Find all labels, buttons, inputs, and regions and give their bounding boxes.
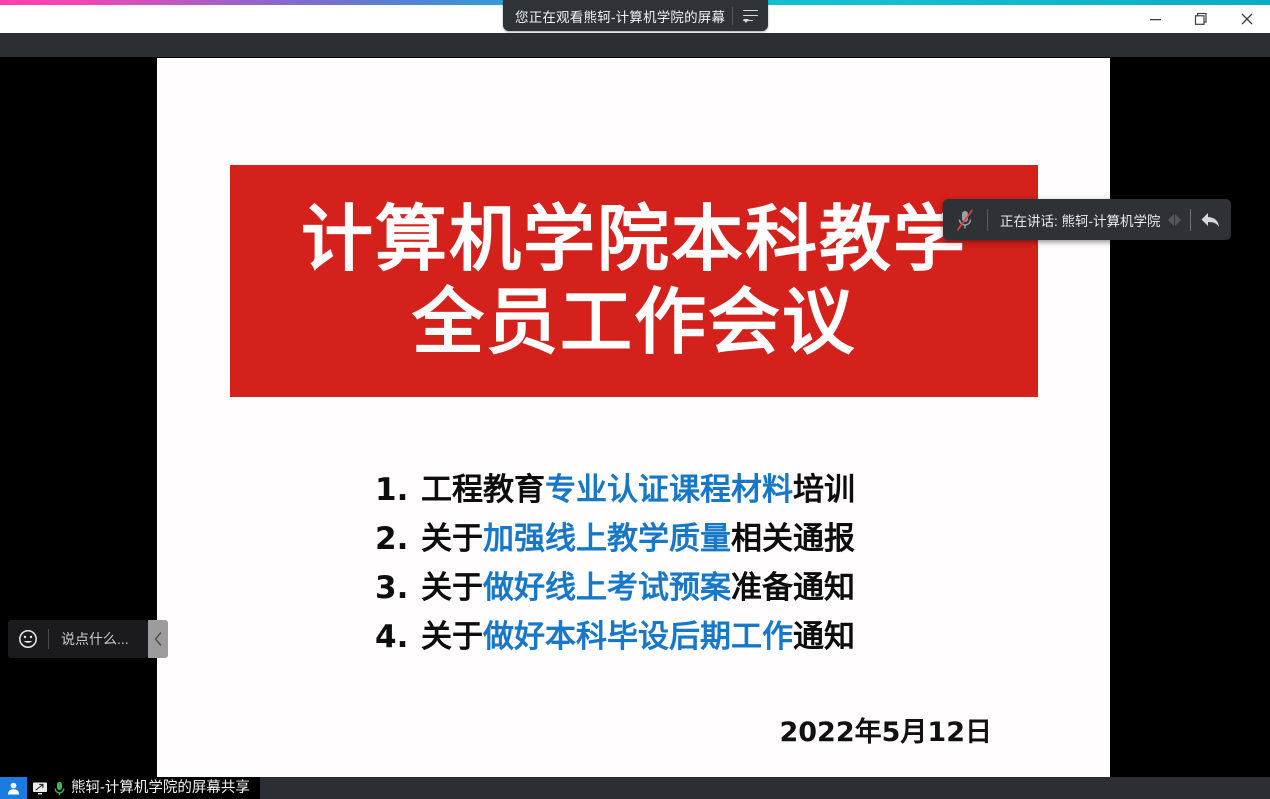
agenda-text-pre: 工程教育 xyxy=(421,466,545,515)
agenda-number: 4. xyxy=(375,613,421,662)
agenda-text-highlight: 做好线上考试预案 xyxy=(483,564,731,613)
agenda-text-highlight: 做好本科毕设后期工作 xyxy=(483,613,793,662)
emoji-button[interactable] xyxy=(8,620,48,658)
minimize-button[interactable] xyxy=(1132,5,1178,33)
agenda-number: 1. xyxy=(375,466,421,515)
agenda-text-post: 相关通报 xyxy=(731,515,855,564)
reply-arrow-icon xyxy=(1200,210,1222,230)
agenda-text-post: 准备通知 xyxy=(731,564,855,613)
collapse-chevrons-icon xyxy=(1165,210,1185,230)
agenda-text-post: 培训 xyxy=(793,466,855,515)
slide-title-line2: 全员工作会议 xyxy=(412,282,856,363)
hamburger-menu-icon xyxy=(743,10,758,22)
minimize-icon xyxy=(1149,13,1162,26)
agenda-text-post: 通知 xyxy=(793,613,855,662)
toolbar-collapse-button[interactable] xyxy=(1160,199,1190,240)
window-controls xyxy=(1132,5,1270,33)
restore-button[interactable] xyxy=(1178,5,1224,33)
list-item: 2. 关于 加强线上教学质量 相关通报 xyxy=(375,515,1075,564)
agenda-text-pre: 关于 xyxy=(421,613,483,662)
bottom-status-bar: 熊轲-计算机学院的屏幕共享 xyxy=(0,777,1270,799)
agenda-number: 3. xyxy=(375,564,421,613)
slide-agenda-list: 1. 工程教育 专业认证课程材料 培训 2. 关于 加强线上教学质量 相关通报 … xyxy=(375,466,1075,662)
speaker-status-toolbar[interactable]: 正在讲话: 熊轲-计算机学院; xyxy=(943,199,1231,240)
microphone-active-icon[interactable] xyxy=(53,781,66,796)
chevron-left-icon xyxy=(154,632,163,646)
viewing-screen-chip[interactable]: 您正在观看熊轲-计算机学院的屏幕 xyxy=(503,0,768,31)
agenda-text-highlight: 专业认证课程材料 xyxy=(545,466,793,515)
list-item: 4. 关于 做好本科毕设后期工作 通知 xyxy=(375,613,1075,662)
status-bar-group: 熊轲-计算机学院的屏幕共享 xyxy=(0,777,260,799)
screen-share-icon[interactable] xyxy=(32,781,48,796)
mute-toggle-button[interactable] xyxy=(943,199,987,240)
presentation-slide: 计算机学院本科教学 全员工作会议 1. 工程教育 专业认证课程材料 培训 2. … xyxy=(157,58,1110,777)
slide-title-banner: 计算机学院本科教学 全员工作会议 xyxy=(230,165,1038,397)
close-button[interactable] xyxy=(1224,5,1270,33)
return-button[interactable] xyxy=(1191,199,1231,240)
chat-input-placeholder[interactable]: 说点什么... xyxy=(49,629,148,649)
slide-date: 2022年5月12日 xyxy=(779,710,992,749)
restore-icon xyxy=(1194,12,1208,26)
screen-share-label: 熊轲-计算机学院的屏幕共享 xyxy=(71,777,260,799)
chip-menu-button[interactable] xyxy=(733,0,768,31)
shared-screen-stage: 计算机学院本科教学 全员工作会议 1. 工程教育 专业认证课程材料 培训 2. … xyxy=(0,57,1270,777)
emoji-smiley-icon xyxy=(18,629,38,649)
agenda-number: 2. xyxy=(375,515,421,564)
microphone-muted-icon xyxy=(954,208,976,232)
chat-collapse-handle[interactable] xyxy=(148,620,168,658)
participant-icon xyxy=(6,781,21,796)
slide-title-line1: 计算机学院本科教学 xyxy=(301,199,967,280)
agenda-text-highlight: 加强线上教学质量 xyxy=(483,515,731,564)
close-icon xyxy=(1240,12,1254,26)
participant-button[interactable] xyxy=(0,777,27,799)
list-item: 1. 工程教育 专业认证课程材料 培训 xyxy=(375,466,1075,515)
meeting-toolbar-band xyxy=(0,33,1270,57)
agenda-text-pre: 关于 xyxy=(421,515,483,564)
meeting-window: 您正在观看熊轲-计算机学院的屏幕 xyxy=(0,0,1270,799)
viewing-screen-label: 您正在观看熊轲-计算机学院的屏幕 xyxy=(503,6,732,26)
status-bar-icons xyxy=(27,781,71,796)
list-item: 3. 关于 做好线上考试预案 准备通知 xyxy=(375,564,1075,613)
agenda-text-pre: 关于 xyxy=(421,564,483,613)
window-titlebar: 您正在观看熊轲-计算机学院的屏幕 xyxy=(0,5,1270,33)
speaking-status-label: 正在讲话: 熊轲-计算机学院; xyxy=(988,210,1160,230)
chat-input-bar[interactable]: 说点什么... xyxy=(8,620,148,658)
